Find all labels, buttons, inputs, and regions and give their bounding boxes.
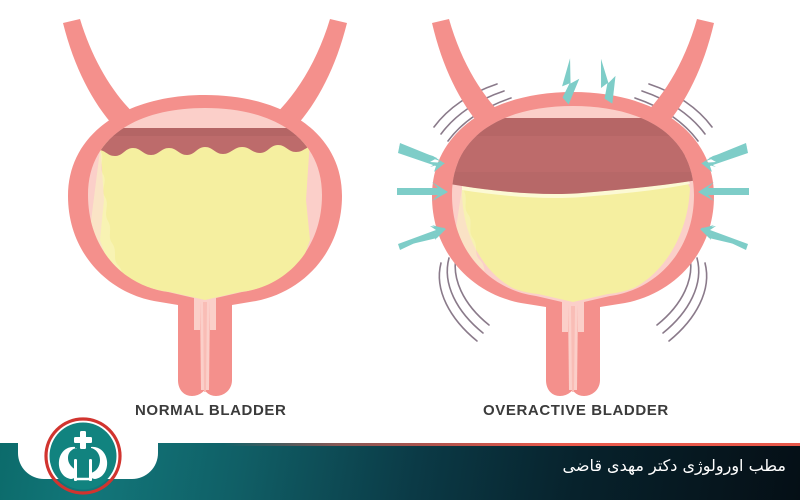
pressure-arrow-left-top-icon <box>398 143 445 172</box>
normal-bladder-label: NORMAL BLADDER <box>135 402 286 419</box>
pressure-arrow-right-top-icon <box>701 143 748 172</box>
overactive-urine <box>456 178 690 322</box>
clinic-name-text: مطب اورولوژی دکتر مهدی قاضی <box>563 456 786 475</box>
pressure-arrow-right-bottom-icon <box>700 225 748 250</box>
normal-urethra-lumen <box>200 300 210 392</box>
pressure-arrow-left-bottom-icon <box>398 225 446 250</box>
overactive-urethra-lumen <box>568 304 578 392</box>
kidney-logo-icon[interactable] <box>44 417 122 495</box>
illustration-page: NORMAL BLADDER OVERACTIVE BLADDER مطب او… <box>0 0 800 500</box>
overactive-bladder-label: OVERACTIVE BLADDER <box>483 402 669 419</box>
